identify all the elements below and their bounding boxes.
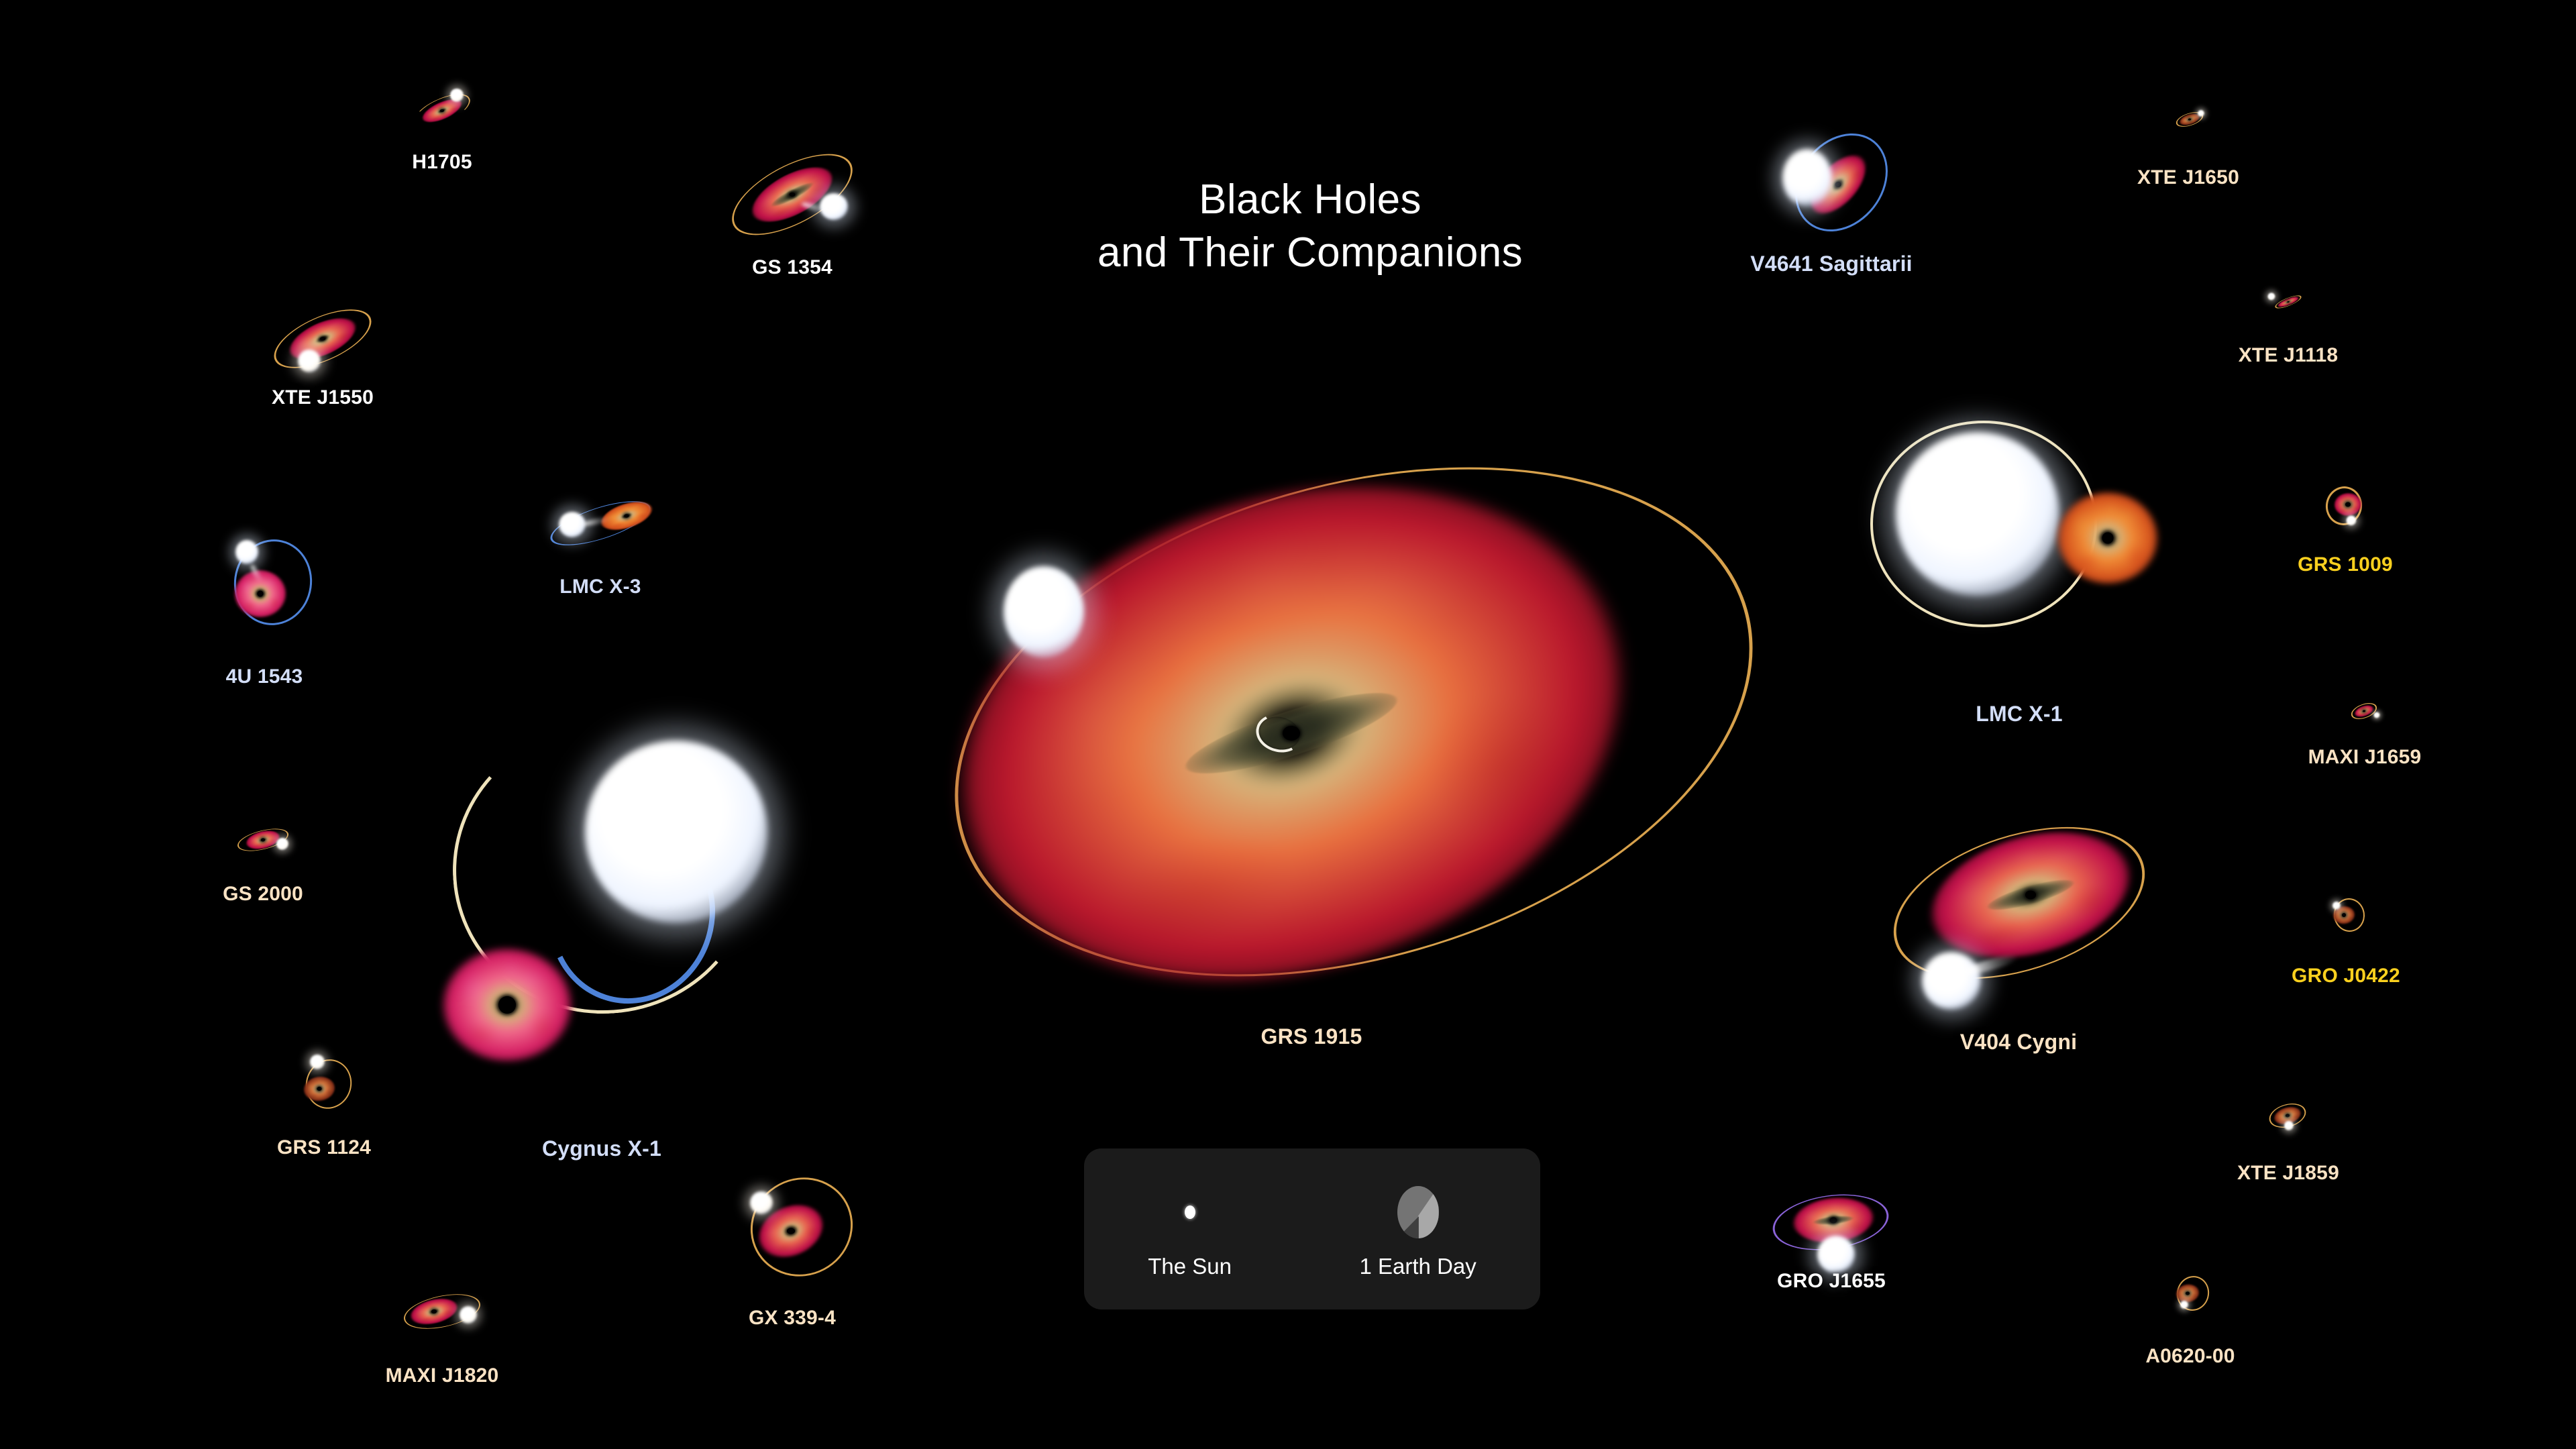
companion-star	[2346, 515, 2356, 525]
label-h1705[interactable]: H1705	[412, 151, 472, 174]
black-hole	[1830, 1217, 1837, 1223]
black-hole	[2025, 890, 2036, 899]
4u-1543-art	[211, 523, 318, 637]
label-grs-1124[interactable]: GRS 1124	[277, 1136, 371, 1159]
maxi-j1659-art	[2337, 693, 2391, 730]
system-grs-1009[interactable]	[2310, 480, 2383, 537]
companion-star	[276, 838, 288, 850]
companion-star	[1782, 149, 1832, 207]
title-line-2: and Their Companions	[1097, 226, 1523, 279]
black-hole	[787, 1228, 795, 1234]
system-lmc-x-1[interactable]	[1872, 413, 2167, 654]
system-h1705[interactable]	[402, 80, 482, 141]
system-xte-j1650[interactable]	[2161, 101, 2218, 138]
system-gro-j0422[interactable]	[2314, 891, 2377, 938]
black-hole	[317, 1087, 321, 1091]
label-lmc-x-3[interactable]: LMC X-3	[559, 576, 641, 598]
companion-star	[2374, 712, 2380, 718]
label-xte-j1859[interactable]: XTE J1859	[2237, 1162, 2339, 1185]
black-hole	[624, 515, 629, 518]
sun-dot-icon	[1185, 1181, 1195, 1243]
maxi-j1820-art	[392, 1281, 492, 1342]
system-maxi-j1820[interactable]	[392, 1281, 492, 1342]
system-xte-j1550[interactable]	[262, 297, 383, 381]
label-cygnus-x-1[interactable]: Cygnus X-1	[542, 1136, 661, 1161]
black-hole	[257, 591, 263, 597]
black-hole	[2363, 710, 2365, 712]
system-grs-1915[interactable]	[875, 436, 1761, 986]
system-maxi-j1659[interactable]	[2337, 693, 2391, 730]
black-hole	[2186, 1292, 2190, 1295]
clock-disc-icon	[1397, 1181, 1439, 1243]
companion-star	[2180, 1301, 2188, 1309]
xte-j1118-art	[2258, 285, 2318, 319]
grs-1009-art	[2310, 480, 2383, 537]
companion-star	[235, 540, 258, 564]
h1705-art	[402, 80, 482, 141]
page-title: Black Holes and Their Companions	[1097, 173, 1523, 280]
companion-star	[1817, 1236, 1855, 1273]
label-gro-j0422[interactable]: GRO J0422	[2292, 965, 2400, 987]
label-v404-cygni[interactable]: V404 Cygni	[1960, 1030, 2078, 1055]
companion-star	[298, 350, 321, 372]
grs-1124-art	[284, 1044, 364, 1118]
label-lmc-x-1[interactable]: LMC X-1	[1976, 702, 2062, 727]
legend-sun-label: The Sun	[1148, 1254, 1232, 1279]
black-hole	[790, 193, 796, 197]
black-hole	[2286, 1114, 2290, 1118]
system-lmc-x-3[interactable]	[542, 486, 659, 560]
title-line-1: Black Holes	[1097, 173, 1523, 226]
black-hole	[440, 109, 444, 112]
visualization-canvas: Black Holes and Their Companions	[0, 0, 2576, 1449]
label-a0620-00[interactable]: A0620-00	[2145, 1345, 2235, 1368]
companion-star	[2198, 110, 2204, 117]
black-hole	[431, 1309, 437, 1313]
companion-star	[750, 1191, 773, 1214]
companion-star	[1896, 432, 2059, 596]
label-grs-1915[interactable]: GRS 1915	[1260, 1024, 1362, 1049]
black-hole	[320, 337, 325, 341]
system-xte-j1859[interactable]	[2254, 1091, 2321, 1141]
system-gs-2000[interactable]	[226, 816, 300, 863]
label-v4641-sagittarii[interactable]: V4641 Sagittarii	[1750, 252, 1913, 276]
black-hole	[2188, 119, 2191, 121]
companion-star	[585, 741, 767, 923]
legend-item-day: 1 Earth Day	[1360, 1179, 1477, 1279]
cygnus-x-1-art	[402, 704, 805, 1080]
grs-1915-art	[875, 436, 1761, 986]
companion-star	[1004, 566, 1084, 657]
companion-star	[2332, 902, 2341, 910]
black-hole	[2345, 502, 2351, 506]
black-hole	[261, 839, 265, 842]
system-gx-339-4[interactable]	[729, 1175, 863, 1275]
label-gro-j1655[interactable]: GRO J1655	[1777, 1270, 1886, 1293]
v404-cygni-art	[1878, 813, 2160, 1028]
xte-j1550-art	[262, 297, 383, 381]
legend-day-label: 1 Earth Day	[1360, 1254, 1477, 1279]
system-gs-1354[interactable]	[715, 144, 869, 245]
a0620-00-art	[2160, 1270, 2220, 1317]
gx-339-4-art	[729, 1175, 863, 1275]
lmc-x-1-art	[1872, 413, 2167, 654]
xte-j1859-art	[2254, 1091, 2321, 1141]
label-grs-1009[interactable]: GRS 1009	[2298, 553, 2393, 576]
label-xte-j1118[interactable]: XTE J1118	[2239, 344, 2339, 367]
system-a0620-00[interactable]	[2160, 1270, 2220, 1317]
label-xte-j1650[interactable]: XTE J1650	[2137, 166, 2239, 189]
companion-star	[450, 89, 464, 102]
label-gs-2000[interactable]: GS 2000	[223, 883, 303, 906]
companion-star	[1922, 952, 1981, 1010]
black-hole	[1835, 182, 1841, 187]
system-v4641-sagittarii[interactable]	[1755, 125, 1909, 239]
black-hole	[2102, 533, 2114, 544]
label-4u-1543[interactable]: 4U 1543	[226, 665, 303, 688]
system-cygnus-x-1[interactable]	[402, 704, 805, 1080]
lmc-x-3-art	[542, 486, 659, 560]
companion-star	[310, 1055, 325, 1069]
legend-item-sun: The Sun	[1148, 1179, 1232, 1279]
label-gs-1354[interactable]: GS 1354	[752, 256, 833, 279]
companion-star	[820, 193, 848, 220]
gro-j0422-art	[2314, 891, 2377, 938]
black-hole	[498, 996, 516, 1014]
gs-2000-art	[226, 816, 300, 863]
system-v404-cygni[interactable]	[1878, 813, 2160, 1028]
label-gx-339-4[interactable]: GX 339-4	[749, 1307, 836, 1330]
scale-legend: The Sun 1 Earth Day	[1084, 1148, 1540, 1309]
companion-star	[2284, 1121, 2294, 1130]
companion-star	[460, 1306, 477, 1324]
system-grs-1124[interactable]	[284, 1044, 364, 1118]
label-xte-j1550[interactable]: XTE J1550	[272, 386, 374, 409]
system-xte-j1118[interactable]	[2258, 285, 2318, 319]
label-maxi-j1659[interactable]: MAXI J1659	[2308, 746, 2422, 769]
xte-j1650-art	[2161, 101, 2218, 138]
black-hole	[2288, 301, 2290, 303]
black-hole	[2342, 913, 2346, 917]
label-maxi-j1820[interactable]: MAXI J1820	[386, 1364, 499, 1387]
v4641-sagittarii-art	[1755, 125, 1909, 239]
companion-star	[2267, 293, 2275, 301]
gs-1354-art	[715, 144, 869, 245]
system-4u-1543[interactable]	[211, 523, 318, 637]
